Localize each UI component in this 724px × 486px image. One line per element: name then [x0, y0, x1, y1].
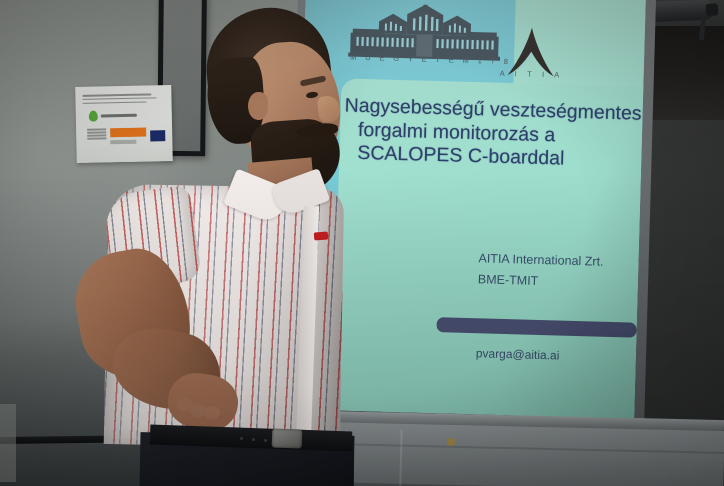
presenter: [0, 0, 724, 486]
shirt-logo-tag: [314, 232, 329, 241]
belt-hole: [264, 439, 267, 442]
belt-hole: [252, 438, 255, 441]
hand-knuckle: [204, 406, 220, 419]
belt-buckle: [272, 428, 303, 448]
belt-hole: [240, 437, 243, 440]
photo-scene: M Ű E G Y E T E M 1 7 8 2 A I T I A Nagy…: [0, 0, 724, 486]
presenter-ear: [248, 92, 268, 120]
